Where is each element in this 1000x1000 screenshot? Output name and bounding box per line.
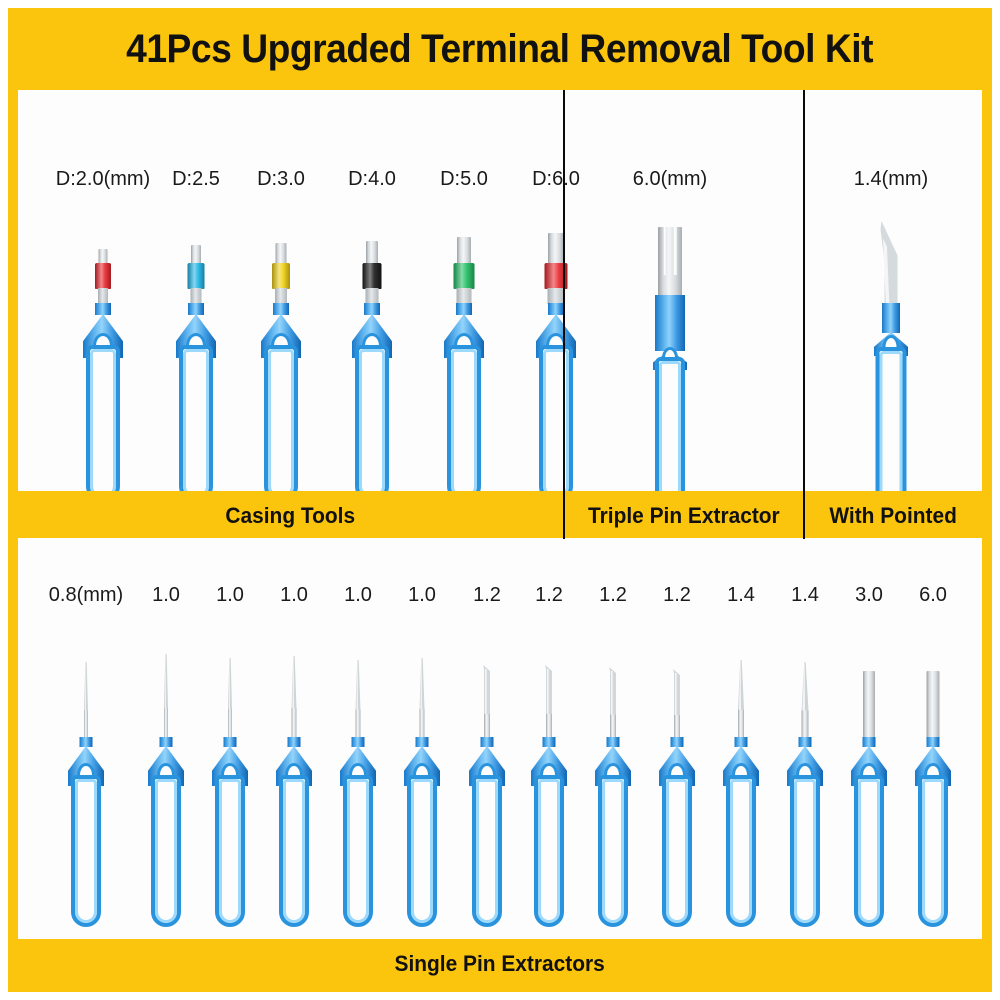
tool-illustration xyxy=(719,627,763,917)
handle-neck xyxy=(548,303,564,315)
blue-handle xyxy=(723,737,759,917)
metal-ferrule xyxy=(275,288,287,304)
metal-ferrule xyxy=(457,288,472,304)
tool-illustration xyxy=(144,627,188,917)
tool-size-label: D:3.0 xyxy=(257,168,305,191)
handle-loop-highlight xyxy=(538,779,560,923)
handle-loop-highlight xyxy=(659,361,681,491)
handle-neck xyxy=(735,737,748,747)
blue-handle xyxy=(444,303,484,491)
handle-neck xyxy=(655,295,685,351)
colored-collar xyxy=(272,263,290,289)
tool-illustration xyxy=(80,203,126,491)
handle-neck xyxy=(160,737,173,747)
caption-with-pointed: With Pointed xyxy=(805,492,982,539)
tool-size-label: D:6.0 xyxy=(532,168,580,191)
handle-neck xyxy=(188,303,204,315)
metal-ferrule xyxy=(548,288,565,304)
hooked-tip-icon xyxy=(606,667,620,715)
metal-section xyxy=(911,627,955,741)
tool-item: 6.0(mm) xyxy=(595,90,745,491)
tool-illustration xyxy=(208,627,252,917)
blue-handle xyxy=(653,295,687,491)
tool-size-label: 1.0 xyxy=(280,584,308,607)
blue-handle xyxy=(874,303,908,491)
needle-tip-icon xyxy=(82,662,90,710)
blue-handle xyxy=(352,303,392,491)
handle-neck xyxy=(927,737,940,747)
handle-loop-highlight xyxy=(219,779,241,923)
handle-neck xyxy=(288,737,301,747)
handle-neck xyxy=(863,737,876,747)
handle-neck xyxy=(882,303,900,333)
handle-loop-highlight xyxy=(666,779,688,923)
needle-tip-icon xyxy=(354,660,363,710)
metal-section xyxy=(655,627,699,741)
tool-size-label: 6.0 xyxy=(919,584,947,607)
handle-loop-highlight xyxy=(75,779,97,923)
hooked-tip-icon xyxy=(542,665,556,714)
metal-section xyxy=(336,627,380,741)
colored-collar xyxy=(363,263,382,289)
needle-tip-icon xyxy=(162,654,170,707)
tool-illustration xyxy=(911,627,955,917)
handle-loop-highlight xyxy=(730,779,752,923)
tool-size-label: 1.0 xyxy=(344,584,372,607)
tool-illustration xyxy=(533,203,579,491)
handle-loop-highlight xyxy=(476,779,498,923)
colored-collar xyxy=(95,263,111,289)
tool-size-label: 1.2 xyxy=(599,584,627,607)
tool-size-label: 1.2 xyxy=(663,584,691,607)
handle-neck xyxy=(543,737,556,747)
tool-item: 6.0 xyxy=(894,538,972,939)
blue-handle xyxy=(176,303,216,491)
metal-ferrule xyxy=(366,288,379,304)
tool-size-label: 1.4(mm) xyxy=(854,168,928,191)
hooked-tip-icon xyxy=(670,669,684,715)
blue-handle xyxy=(276,737,312,917)
title-band: 41Pcs Upgraded Terminal Removal Tool Kit xyxy=(8,8,992,90)
tool-illustration xyxy=(847,627,891,917)
metal-section xyxy=(591,627,635,741)
metal-ferrule xyxy=(98,288,108,304)
caption-row-top: Casing Tools Triple Pin Extractor With P… xyxy=(18,492,982,539)
blue-handle xyxy=(83,303,123,491)
handle-loop-highlight xyxy=(155,779,177,923)
handle-neck xyxy=(224,737,237,747)
metal-shaft xyxy=(658,227,682,299)
tool-size-label: 1.4 xyxy=(727,584,755,607)
metal-section xyxy=(783,627,827,741)
tool-size-label: D:2.0(mm) xyxy=(56,168,150,191)
handle-neck xyxy=(481,737,494,747)
colored-collar xyxy=(454,263,475,289)
metal-section xyxy=(719,627,763,741)
hooked-tip-icon xyxy=(480,665,494,714)
handle-loop-highlight xyxy=(602,779,624,923)
metal-section xyxy=(847,627,891,741)
blue-handle xyxy=(851,737,887,917)
panel-divider-2 xyxy=(803,90,805,539)
tool-illustration xyxy=(465,627,509,917)
metal-shaft xyxy=(164,707,168,741)
tool-illustration xyxy=(647,203,693,491)
handle-loop-highlight xyxy=(880,351,903,491)
metal-shaft xyxy=(863,671,875,741)
tool-illustration xyxy=(258,203,304,491)
metal-ferrule xyxy=(191,288,202,304)
tool-illustration xyxy=(173,203,219,491)
handle-neck xyxy=(364,303,380,315)
metal-section xyxy=(272,627,316,741)
bottom-panel: 0.8(mm)1.01.01.01.01.01.21.21.21.21.41.4… xyxy=(18,538,982,939)
handle-neck xyxy=(352,737,365,747)
blue-handle xyxy=(261,303,301,491)
handle-neck xyxy=(95,303,111,315)
tool-illustration xyxy=(655,627,699,917)
handle-loop-highlight xyxy=(268,349,294,491)
tool-size-label: D:5.0 xyxy=(440,168,488,191)
caption-single-pin-extractors: Single Pin Extractors xyxy=(18,940,982,987)
handle-loop-highlight xyxy=(451,349,477,491)
caption-triple-pin-extractor: Triple Pin Extractor xyxy=(565,492,803,539)
tool-size-label: 6.0(mm) xyxy=(633,168,707,191)
tool-illustration xyxy=(64,627,108,917)
blue-handle xyxy=(212,737,248,917)
blue-handle xyxy=(595,737,631,917)
handle-loop-highlight xyxy=(283,779,305,923)
handle-loop-highlight xyxy=(858,779,880,923)
handle-neck xyxy=(799,737,812,747)
handle-neck xyxy=(607,737,620,747)
handle-loop-highlight xyxy=(183,349,209,491)
handle-loop-highlight xyxy=(794,779,816,923)
tool-illustration xyxy=(400,627,444,917)
tool-size-label: 1.0 xyxy=(152,584,180,607)
tool-size-label: D:4.0 xyxy=(348,168,396,191)
tool-item: 0.8(mm) xyxy=(47,538,125,939)
handle-neck xyxy=(671,737,684,747)
metal-shaft xyxy=(927,671,940,741)
handle-loop-highlight xyxy=(922,779,944,923)
blue-handle xyxy=(404,737,440,917)
blue-handle xyxy=(915,737,951,917)
metal-section xyxy=(465,627,509,741)
tool-size-label: 1.0 xyxy=(408,584,436,607)
handle-loop-highlight xyxy=(347,779,369,923)
handle-loop-highlight xyxy=(90,349,116,491)
handle-loop-highlight xyxy=(543,349,569,491)
metal-section xyxy=(64,627,108,741)
tool-size-label: 3.0 xyxy=(855,584,883,607)
blue-handle xyxy=(148,737,184,917)
tool-size-label: D:2.5 xyxy=(172,168,220,191)
tool-illustration xyxy=(527,627,571,917)
tool-size-label: 1.2 xyxy=(535,584,563,607)
metal-section xyxy=(868,203,914,307)
needle-tip-icon xyxy=(418,658,427,709)
tool-illustration xyxy=(349,203,395,491)
needle-tip-icon xyxy=(736,660,746,710)
needle-tip-icon xyxy=(226,658,234,709)
tool-illustration xyxy=(591,627,635,917)
panel-divider-1 xyxy=(563,90,565,539)
metal-section xyxy=(208,627,252,741)
blue-handle xyxy=(531,737,567,917)
tool-illustration xyxy=(441,203,487,491)
handle-loop-highlight xyxy=(411,779,433,923)
tool-size-label: 1.0 xyxy=(216,584,244,607)
tool-size-label: 1.2 xyxy=(473,584,501,607)
metal-section xyxy=(527,627,571,741)
prong-slot-left xyxy=(663,227,666,275)
needle-tip-icon xyxy=(290,656,299,708)
handle-neck xyxy=(416,737,429,747)
blue-handle xyxy=(68,737,104,917)
metal-section xyxy=(144,627,188,741)
colored-collar xyxy=(188,263,205,289)
caption-row-bottom: Single Pin Extractors xyxy=(18,940,982,987)
tool-item: 1.4(mm) xyxy=(816,90,966,491)
handle-neck xyxy=(80,737,93,747)
blue-handle xyxy=(469,737,505,917)
handle-neck xyxy=(456,303,472,315)
tool-size-label: 0.8(mm) xyxy=(49,584,123,607)
needle-tip-icon xyxy=(800,662,811,710)
product-infographic: 41Pcs Upgraded Terminal Removal Tool Kit… xyxy=(0,0,1000,1000)
blue-handle xyxy=(659,737,695,917)
blue-handle xyxy=(787,737,823,917)
tool-illustration xyxy=(336,627,380,917)
metal-section xyxy=(647,203,693,299)
top-panel: D:2.0(mm)D:2.5D:3.0D:4.0D:5.0D:6.06.0(mm… xyxy=(18,90,982,491)
blue-handle xyxy=(340,737,376,917)
pointed-blade-icon xyxy=(880,221,903,307)
metal-shaft xyxy=(292,707,297,741)
handle-neck xyxy=(273,303,289,315)
tool-illustration xyxy=(272,627,316,917)
page-title: 41Pcs Upgraded Terminal Removal Tool Kit xyxy=(127,27,874,72)
tool-illustration xyxy=(868,203,914,491)
prong-slot-right xyxy=(674,227,677,275)
tool-size-label: 1.4 xyxy=(791,584,819,607)
handle-loop-highlight xyxy=(359,349,385,491)
blue-handle xyxy=(536,303,576,491)
tool-illustration xyxy=(783,627,827,917)
metal-section xyxy=(400,627,444,741)
caption-casing-tools: Casing Tools xyxy=(18,492,563,539)
